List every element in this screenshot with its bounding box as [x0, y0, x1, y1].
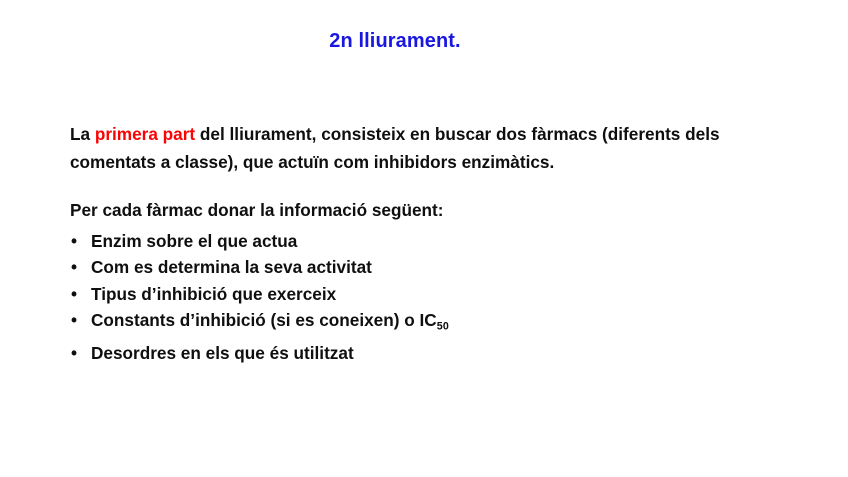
list-item-label: Tipus d’inhibició que exerceix	[91, 284, 336, 304]
page-title: 2n lliurament.	[0, 29, 790, 53]
intro-paragraph: La primera part del lliurament, consiste…	[70, 120, 780, 176]
intro-lead-text: La	[70, 124, 95, 144]
list-item: • Constants d’inhibició (si es coneixen)…	[70, 307, 780, 340]
bullet-icon: •	[71, 307, 77, 333]
list-item: • Enzim sobre el que actua	[70, 228, 780, 254]
list-item: • Tipus d’inhibició que exerceix	[70, 281, 780, 307]
list-item-label: Desordres en els que és utilitzat	[91, 343, 354, 363]
requirements-list: • Enzim sobre el que actua • Com es dete…	[70, 228, 780, 366]
list-item-label: Enzim sobre el que actua	[91, 231, 297, 251]
bullet-icon: •	[71, 281, 77, 307]
bullet-icon: •	[71, 340, 77, 366]
bullet-icon: •	[71, 254, 77, 280]
list-item: • Desordres en els que és utilitzat	[70, 340, 780, 366]
list-item-label: Com es determina la seva activitat	[91, 257, 372, 277]
list-item-label: Constants d’inhibició (si es coneixen) o…	[91, 310, 437, 330]
list-item: • Com es determina la seva activitat	[70, 254, 780, 280]
prompt-paragraph: Per cada fàrmac donar la informació segü…	[70, 196, 780, 224]
list-item-subscript: 50	[437, 321, 449, 333]
slide-canvas: 2n lliurament. La primera part del lliur…	[0, 0, 848, 477]
bullet-icon: •	[71, 228, 77, 254]
intro-highlight-text: primera part	[95, 124, 195, 144]
